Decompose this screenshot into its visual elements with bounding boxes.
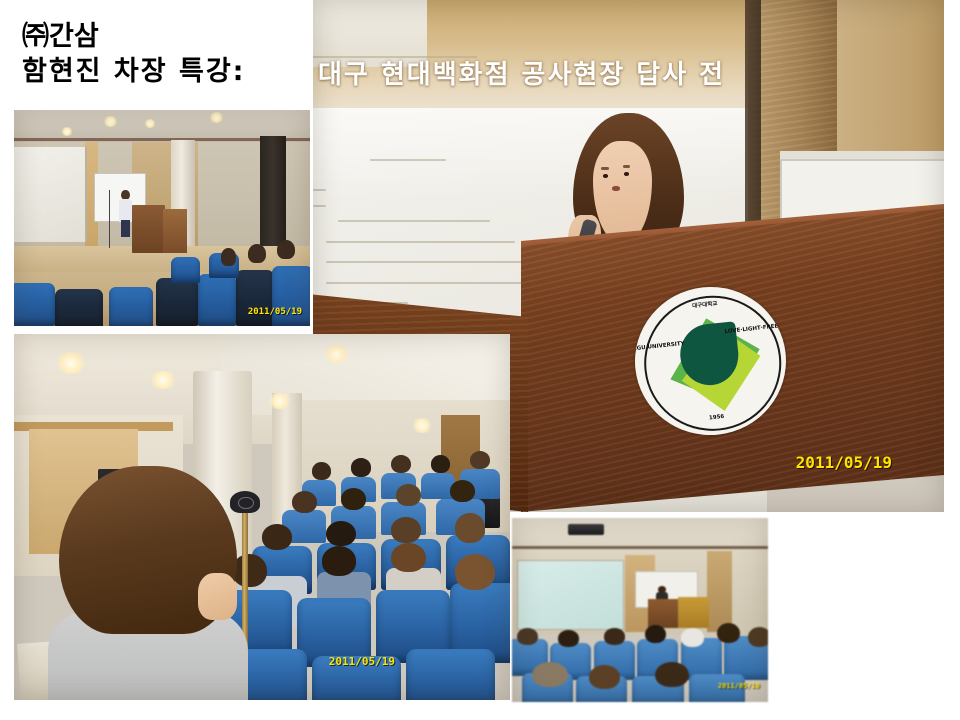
photo-timestamp: 2011/05/19 [329, 655, 395, 668]
audience-head [717, 623, 740, 643]
projection-screen [517, 560, 624, 630]
audience-head [748, 627, 768, 647]
slide-text-line [338, 220, 489, 222]
slide-text-line [326, 241, 515, 243]
wood-wall-far-right [837, 0, 944, 154]
audience-head [312, 462, 332, 480]
audience-head [248, 244, 266, 263]
photo-audience-toward-screen: 2011/05/19 [512, 518, 768, 702]
podium-left [132, 205, 165, 253]
emblem-text-ring: 대구대학교 DAEGU UNIVERSITY 1956 LOVE·LIGHT·F… [627, 279, 793, 442]
audience-head [455, 513, 485, 542]
ceiling-light [267, 393, 292, 409]
audience-head [396, 484, 421, 506]
audience-head [221, 248, 236, 265]
audience-head [470, 451, 490, 469]
auditorium-seat [236, 270, 274, 326]
emblem-korean-name: 대구대학교 [692, 299, 718, 310]
ceiling-light [411, 418, 433, 433]
podium-right [678, 597, 709, 628]
audience-head [262, 524, 292, 550]
auditorium-seat [55, 289, 102, 326]
audience-head [532, 662, 568, 688]
ceiling-edge [313, 56, 477, 58]
ceiling-light [209, 112, 224, 123]
auditorium-seat [109, 287, 153, 326]
daegu-university-emblem: 대구대학교 DAEGU UNIVERSITY 1956 LOVE·LIGHT·F… [627, 279, 793, 442]
photo-auditorium-wide-stage: 2011/05/19 [14, 110, 310, 326]
slide-text-line [370, 159, 446, 161]
audience-head [277, 240, 295, 259]
emblem-english-name: DAEGU UNIVERSITY [627, 341, 684, 353]
title-overlay-line: 대구 현대백화점 공사현장 답사 전 [318, 60, 725, 90]
title-company-line: ㈜간삼 [22, 22, 322, 52]
audience-head [604, 628, 624, 645]
audience-head [655, 662, 688, 688]
audience-head [450, 480, 475, 502]
auditorium-seat [156, 278, 197, 326]
audience-head [517, 628, 537, 645]
audience-head [322, 546, 357, 575]
photo-content [14, 334, 510, 700]
audience-head [351, 458, 371, 476]
audience-head [391, 543, 426, 572]
screen-sheen [313, 108, 767, 200]
collage-canvas: ㈜간삼 함현진 차장 특강: [0, 0, 960, 720]
audience-head [326, 521, 356, 547]
auditorium-seat [198, 274, 236, 326]
photo-audience-from-back: 2011/05/19 [14, 334, 510, 700]
ceiling [512, 518, 768, 549]
wood-panel-right [707, 551, 733, 632]
podium-left [648, 599, 679, 628]
slide-text-line [313, 205, 326, 207]
audience-head [681, 628, 704, 646]
audience-head [292, 491, 317, 513]
audience-head [341, 488, 366, 510]
presenter-eye [603, 174, 608, 178]
photo-timestamp: 2011/05/19 [248, 307, 302, 317]
speaker-legs [121, 220, 130, 237]
title-lecture-line: 함현진 차장 특강: [22, 56, 322, 88]
emblem-motto: LOVE·LIGHT·FREEDOM [724, 322, 793, 335]
audience-head [558, 630, 578, 647]
photo-timestamp: 2011/05/19 [718, 682, 760, 690]
auditorium-seat [14, 283, 55, 326]
page-title: ㈜간삼 함현진 차장 특강: [22, 22, 322, 88]
audience-head [431, 455, 451, 473]
presenter-mouth [612, 186, 620, 191]
podium-right [163, 209, 187, 252]
foreground-person-hand [198, 573, 237, 620]
audience-head [391, 455, 411, 473]
photo-timestamp: 2011/05/19 [796, 453, 892, 472]
presenter-brow [601, 167, 609, 170]
audience-head [232, 554, 267, 587]
presenter-eye [624, 172, 629, 176]
photo-content [512, 518, 768, 702]
audience-head [589, 665, 620, 689]
ceiling-light [148, 371, 178, 389]
presenter-brow [623, 165, 631, 168]
auditorium-seat [171, 257, 201, 283]
foreground-person [59, 466, 238, 700]
audience-head [645, 625, 665, 643]
projection-screen [14, 147, 87, 242]
speaker-person [119, 190, 132, 238]
audience-head [455, 554, 495, 591]
stage-curtain [260, 136, 287, 248]
audience-head [391, 517, 421, 543]
photo-content [14, 110, 310, 326]
ceiling-light [61, 127, 73, 136]
speaker-body [119, 199, 132, 222]
emblem-year: 1956 [709, 414, 725, 422]
mic-stand [109, 190, 110, 248]
auditorium-seat [406, 649, 495, 700]
ceiling-light [103, 116, 118, 127]
ceiling-projector [568, 524, 604, 535]
